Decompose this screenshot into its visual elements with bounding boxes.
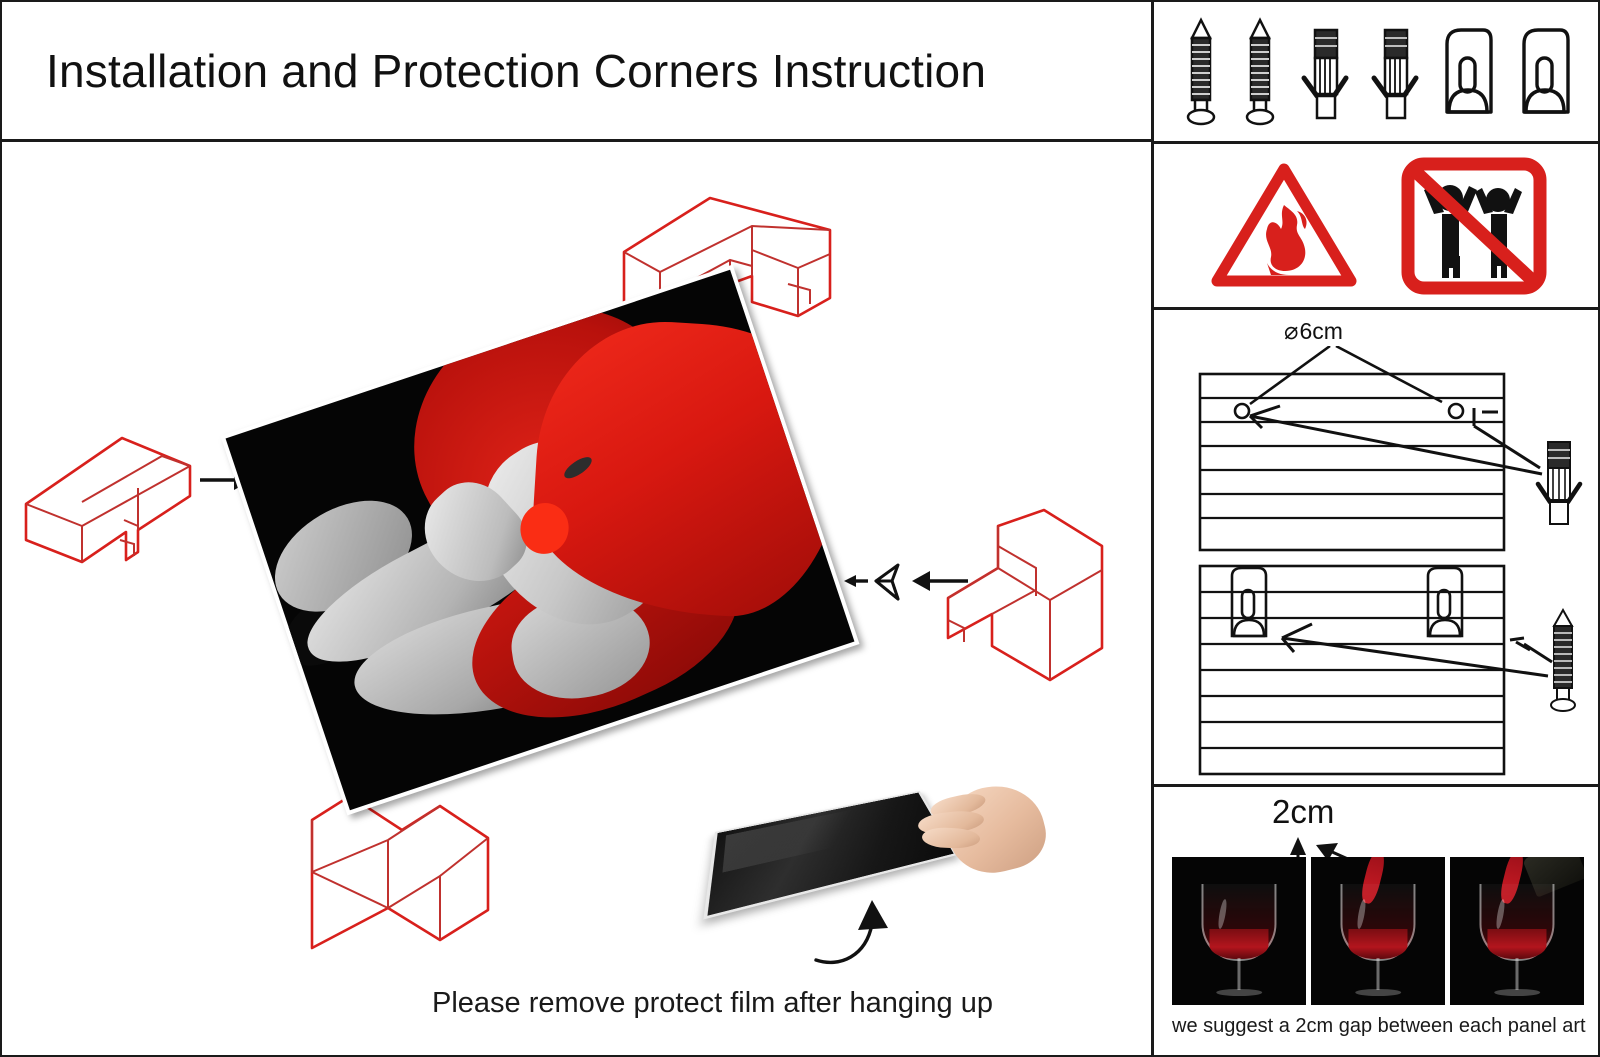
anchor-callout-icon bbox=[1538, 442, 1580, 524]
corner-wedge-right bbox=[842, 547, 982, 617]
screw-callout-icon bbox=[1551, 610, 1575, 711]
mounted-bracket-left bbox=[1232, 568, 1266, 636]
diameter-value: 6cm bbox=[1299, 318, 1342, 345]
hand-graphic bbox=[908, 776, 1038, 884]
wall-bracket-diagram bbox=[1154, 558, 1600, 786]
wine-bowl bbox=[1340, 884, 1415, 961]
wine-stem bbox=[1377, 958, 1380, 991]
glass-highlight bbox=[1495, 898, 1506, 928]
wine-glass-panel-1 bbox=[1172, 857, 1306, 1005]
hardware-panel bbox=[1154, 2, 1600, 144]
peel-direction-arrow bbox=[810, 898, 900, 978]
wine-liquid bbox=[1209, 929, 1269, 959]
mounted-bracket-right bbox=[1428, 568, 1462, 636]
mounting-panel: ⌀6cm bbox=[1154, 310, 1600, 787]
instruction-sheet: Installation and Protection Corners Inst… bbox=[0, 0, 1600, 1057]
main-illustration-stage: Please remove protect film after hanging… bbox=[2, 142, 1151, 1057]
left-column: Installation and Protection Corners Inst… bbox=[2, 2, 1154, 1055]
drill-hole-dimension: ⌀6cm bbox=[1284, 318, 1343, 345]
wine-glass-panel-3 bbox=[1450, 857, 1584, 1005]
wine-panel-triptych bbox=[1172, 857, 1584, 1005]
wine-foot bbox=[1355, 989, 1401, 996]
right-column: ⌀6cm bbox=[1154, 2, 1600, 1055]
corner-protector-left bbox=[12, 392, 222, 572]
artwork-image bbox=[226, 270, 855, 811]
glass-highlight bbox=[1356, 898, 1367, 928]
diameter-symbol: ⌀ bbox=[1284, 320, 1298, 344]
title-bar: Installation and Protection Corners Inst… bbox=[2, 2, 1151, 142]
film-sheen bbox=[723, 802, 901, 872]
wine-bowl bbox=[1201, 884, 1276, 961]
hanging-bracket-icon bbox=[1518, 16, 1574, 128]
wall-hole-diagram bbox=[1154, 346, 1600, 556]
wine-liquid bbox=[1487, 929, 1547, 959]
no-children-playing-icon bbox=[1400, 156, 1548, 296]
panel-gap-note: we suggest a 2cm gap between each panel … bbox=[1172, 1015, 1586, 1038]
wine-stem bbox=[1238, 958, 1241, 991]
hanging-bracket-icon bbox=[1441, 16, 1497, 128]
wine-glass-panel-2 bbox=[1311, 857, 1445, 1005]
screw-icon bbox=[1182, 16, 1220, 128]
wine-liquid bbox=[1348, 929, 1408, 959]
fire-hazard-warning-icon bbox=[1209, 159, 1359, 293]
wall-anchor-icon bbox=[1300, 16, 1350, 128]
wall-anchor-icon bbox=[1370, 16, 1420, 128]
wine-foot bbox=[1494, 989, 1540, 996]
film-removal-caption: Please remove protect film after hanging… bbox=[432, 987, 993, 1020]
screw-icon bbox=[1241, 16, 1279, 128]
gap-dimension-label: 2cm bbox=[1272, 793, 1334, 831]
warning-panel bbox=[1154, 144, 1600, 310]
glass-highlight bbox=[1217, 898, 1228, 928]
wine-foot bbox=[1216, 989, 1262, 996]
panel-gap-panel: 2cm bbox=[1154, 787, 1600, 1057]
page-title: Installation and Protection Corners Inst… bbox=[2, 44, 986, 98]
film-removal-illustration bbox=[702, 770, 1032, 970]
wine-stem bbox=[1516, 958, 1519, 991]
wine-bowl bbox=[1479, 884, 1554, 961]
